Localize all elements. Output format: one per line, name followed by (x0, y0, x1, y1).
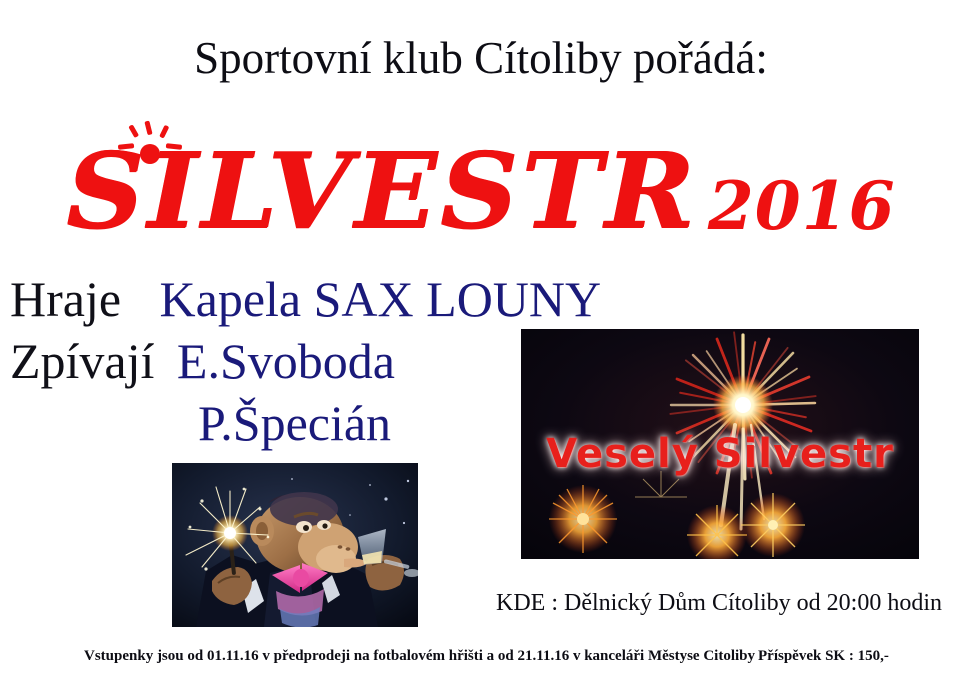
event-year: 2016 (708, 173, 896, 239)
lineup-value-singer-1: E.Svoboda (177, 333, 395, 389)
chimpanzee-illustration (172, 463, 418, 627)
lineup-row: Hraje Kapela SAX LOUNY (10, 268, 710, 330)
fireworks-photo: Veselý Silvestr (521, 329, 919, 559)
lineup-value-singer-2: P.Špecián (198, 395, 391, 451)
chimpanzee-photo (172, 463, 418, 627)
lineup-label-singers: Zpívají (10, 333, 154, 389)
price-info: Příspěvek SK : 150,- (758, 645, 889, 667)
fireworks-illustration (521, 329, 919, 559)
ticket-info: Vstupenky jsou od 01.11.16 v předprodeji… (84, 645, 755, 667)
poster-canvas: Sportovní klub Cítoliby pořádá: SILVESTR… (0, 0, 962, 681)
venue-line: KDE : Dělnický Dům Cítoliby od 20:00 hod… (496, 588, 942, 618)
event-title: SILVESTR (66, 139, 698, 243)
lineup-label-band: Hraje (10, 271, 121, 327)
lineup-value-band: Kapela SAX LOUNY (160, 271, 602, 327)
event-title-row: SILVESTR 2016 (0, 118, 962, 243)
footer: Vstupenky jsou od 01.11.16 v předprodeji… (0, 645, 962, 671)
organizer-heading: Sportovní klub Cítoliby pořádá: (0, 30, 962, 86)
